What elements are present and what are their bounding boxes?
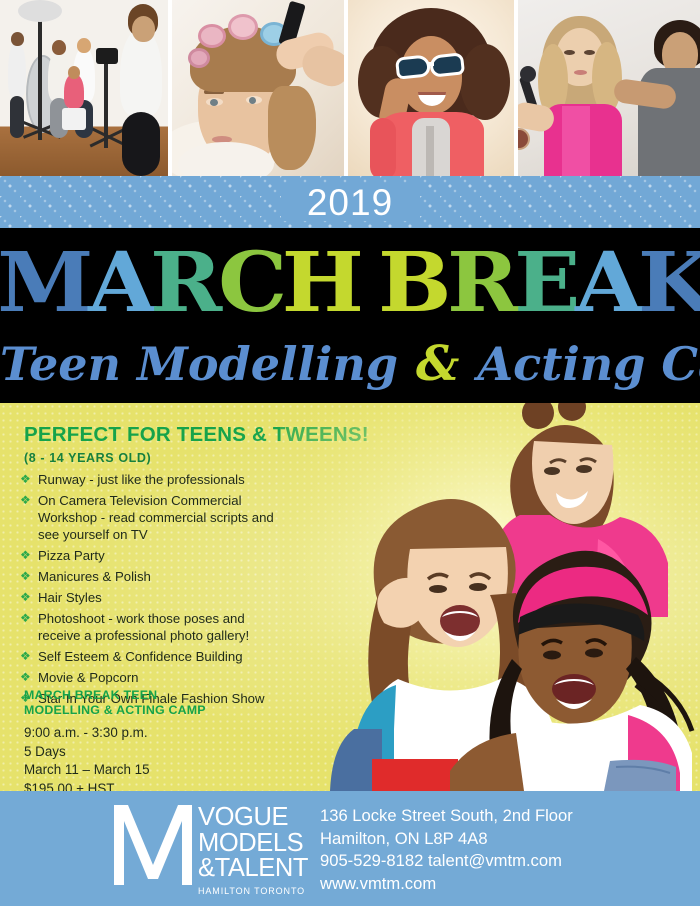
title-block: MARCH BREAK Teen Modelling & Acting Camp <box>0 228 700 403</box>
flyer-page: 2019 MARCH BREAK Teen Modelling & Acting… <box>0 0 700 906</box>
footer-bar: VOGUE MODELS &TALENT HAMILTON TORONTO 13… <box>0 791 700 906</box>
feature-list: ❖Runway - just like the professionals❖On… <box>20 471 288 711</box>
feature-list-item: ❖Self Esteem & Confidence Building <box>20 648 288 665</box>
diamond-bullet-icon: ❖ <box>20 547 38 564</box>
feature-list-item-label: Manicures & Polish <box>38 568 151 585</box>
subtitle: Teen Modelling & Acting Camp <box>0 336 700 392</box>
title-letter: K <box>638 237 700 329</box>
photo-strip <box>0 0 700 176</box>
website-url[interactable]: www.vmtm.com <box>320 873 573 896</box>
subtitle-pre: Teen Modelling <box>0 337 414 391</box>
contact-info: 136 Locke Street South, 2nd Floor Hamilt… <box>320 805 573 895</box>
photo-makeup-artist-with-model <box>518 0 700 176</box>
camp-details: MARCH BREAK TEEN MODELLING & ACTING CAMP… <box>24 688 274 791</box>
title-letter: A <box>88 237 154 329</box>
subtitle-post: Acting Camp <box>461 337 700 391</box>
feature-list-item-label: Self Esteem & Confidence Building <box>38 648 243 665</box>
camp-details-heading: MARCH BREAK TEEN MODELLING & ACTING CAMP <box>24 688 274 718</box>
feature-list-item-label: Hair Styles <box>38 589 102 606</box>
diamond-bullet-icon: ❖ <box>20 669 38 686</box>
camp-details-lines: 9:00 a.m. - 3:30 p.m.5 DaysMarch 11 – Ma… <box>24 724 274 791</box>
camp-details-heading-line1: MARCH BREAK TEEN <box>24 688 274 703</box>
diamond-bullet-icon: ❖ <box>20 471 38 488</box>
feature-list-item-label: Photoshoot - work those poses and receiv… <box>38 610 288 644</box>
title-letter: B <box>378 237 450 329</box>
logo-line-vogue: VOGUE <box>198 805 308 831</box>
diamond-bullet-icon: ❖ <box>20 610 38 627</box>
company-logo: VOGUE MODELS &TALENT HAMILTON TORONTO <box>112 803 308 898</box>
subtitle-ampersand: & <box>414 336 461 392</box>
camp-details-heading-line2: MODELLING & ACTING CAMP <box>24 703 274 718</box>
logo-line-models: MODELS <box>198 831 308 857</box>
title-letter: C <box>218 237 286 329</box>
logo-wordmark: VOGUE MODELS &TALENT HAMILTON TORONTO <box>198 803 308 898</box>
camp-detail-line: March 11 – March 15 <box>24 761 274 780</box>
photo-three-teen-girls-laughing <box>280 403 700 791</box>
photo-teen-in-sunglasses-laughing <box>348 0 514 176</box>
camp-detail-line: 5 Days <box>24 743 274 762</box>
diamond-bullet-icon: ❖ <box>20 492 38 509</box>
body-panel: PERFECT FOR TEENS & TWEENS! (8 - 14 YEAR… <box>0 403 700 791</box>
title-letter: H <box>282 237 363 329</box>
vm-monogram-icon <box>112 803 194 887</box>
main-title: MARCH BREAK <box>0 237 700 329</box>
feature-list-item-label: On Camera Television Commercial Workshop… <box>38 492 288 543</box>
title-letter: A <box>575 237 641 329</box>
feature-list-item-label: Runway - just like the professionals <box>38 471 245 488</box>
title-letter: R <box>447 237 518 329</box>
title-letter: R <box>150 237 221 329</box>
feature-list-item: ❖Pizza Party <box>20 547 288 564</box>
diamond-bullet-icon: ❖ <box>20 568 38 585</box>
address-line-2: Hamilton, ON L8P 4A8 <box>320 828 573 851</box>
feature-list-item: ❖Runway - just like the professionals <box>20 471 288 488</box>
diamond-bullet-icon: ❖ <box>20 648 38 665</box>
feature-list-item: ❖Movie & Popcorn <box>20 669 288 686</box>
feature-list-item-label: Pizza Party <box>38 547 105 564</box>
feature-list-item: ❖On Camera Television Commercial Worksho… <box>20 492 288 543</box>
feature-list-item: ❖Manicures & Polish <box>20 568 288 585</box>
address-line-1: 136 Locke Street South, 2nd Floor <box>320 805 573 828</box>
photo-studio-shoot-with-crew <box>0 0 168 176</box>
feature-list-item: ❖Photoshoot - work those poses and recei… <box>20 610 288 644</box>
feature-list-item-label: Movie & Popcorn <box>38 669 138 686</box>
feature-list-item: ❖Hair Styles <box>20 589 288 606</box>
title-letter: E <box>514 237 579 329</box>
logo-cities: HAMILTON TORONTO <box>198 885 308 898</box>
camp-detail-line: 9:00 a.m. - 3:30 p.m. <box>24 724 274 743</box>
photo-hair-rollers-styling <box>172 0 344 176</box>
diamond-bullet-icon: ❖ <box>20 589 38 606</box>
phone-and-email[interactable]: 905-529-8182 talent@vmtm.com <box>320 850 573 873</box>
age-range-label: (8 - 14 YEARS OLD) <box>24 451 151 465</box>
year-banner: 2019 <box>0 176 700 228</box>
logo-line-talent: &TALENT <box>198 856 308 882</box>
camp-detail-line: $195.00 + HST <box>24 780 274 792</box>
title-letter: M <box>0 237 92 329</box>
year-label: 2019 <box>281 184 419 221</box>
